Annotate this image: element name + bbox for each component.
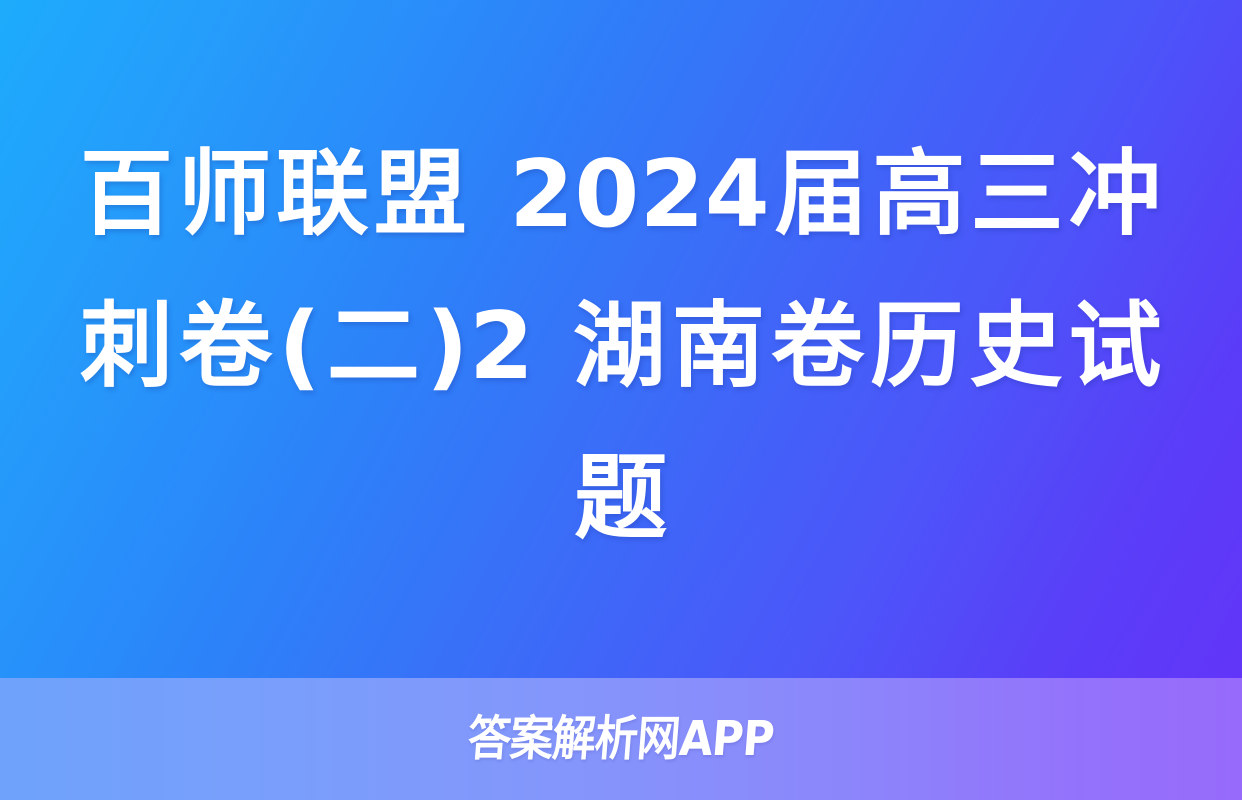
app-watermark-text: 答案解析网APP: [466, 715, 775, 763]
exam-title: 百师联盟 2024届高三冲刺卷(二)2 湖南卷历史试题: [80, 118, 1162, 574]
exam-title-card: 百师联盟 2024届高三冲刺卷(二)2 湖南卷历史试题 答案解析网APP: [0, 0, 1242, 800]
title-block: 百师联盟 2024届高三冲刺卷(二)2 湖南卷历史试题: [0, 0, 1242, 678]
footer-watermark-band: 答案解析网APP: [0, 678, 1242, 800]
